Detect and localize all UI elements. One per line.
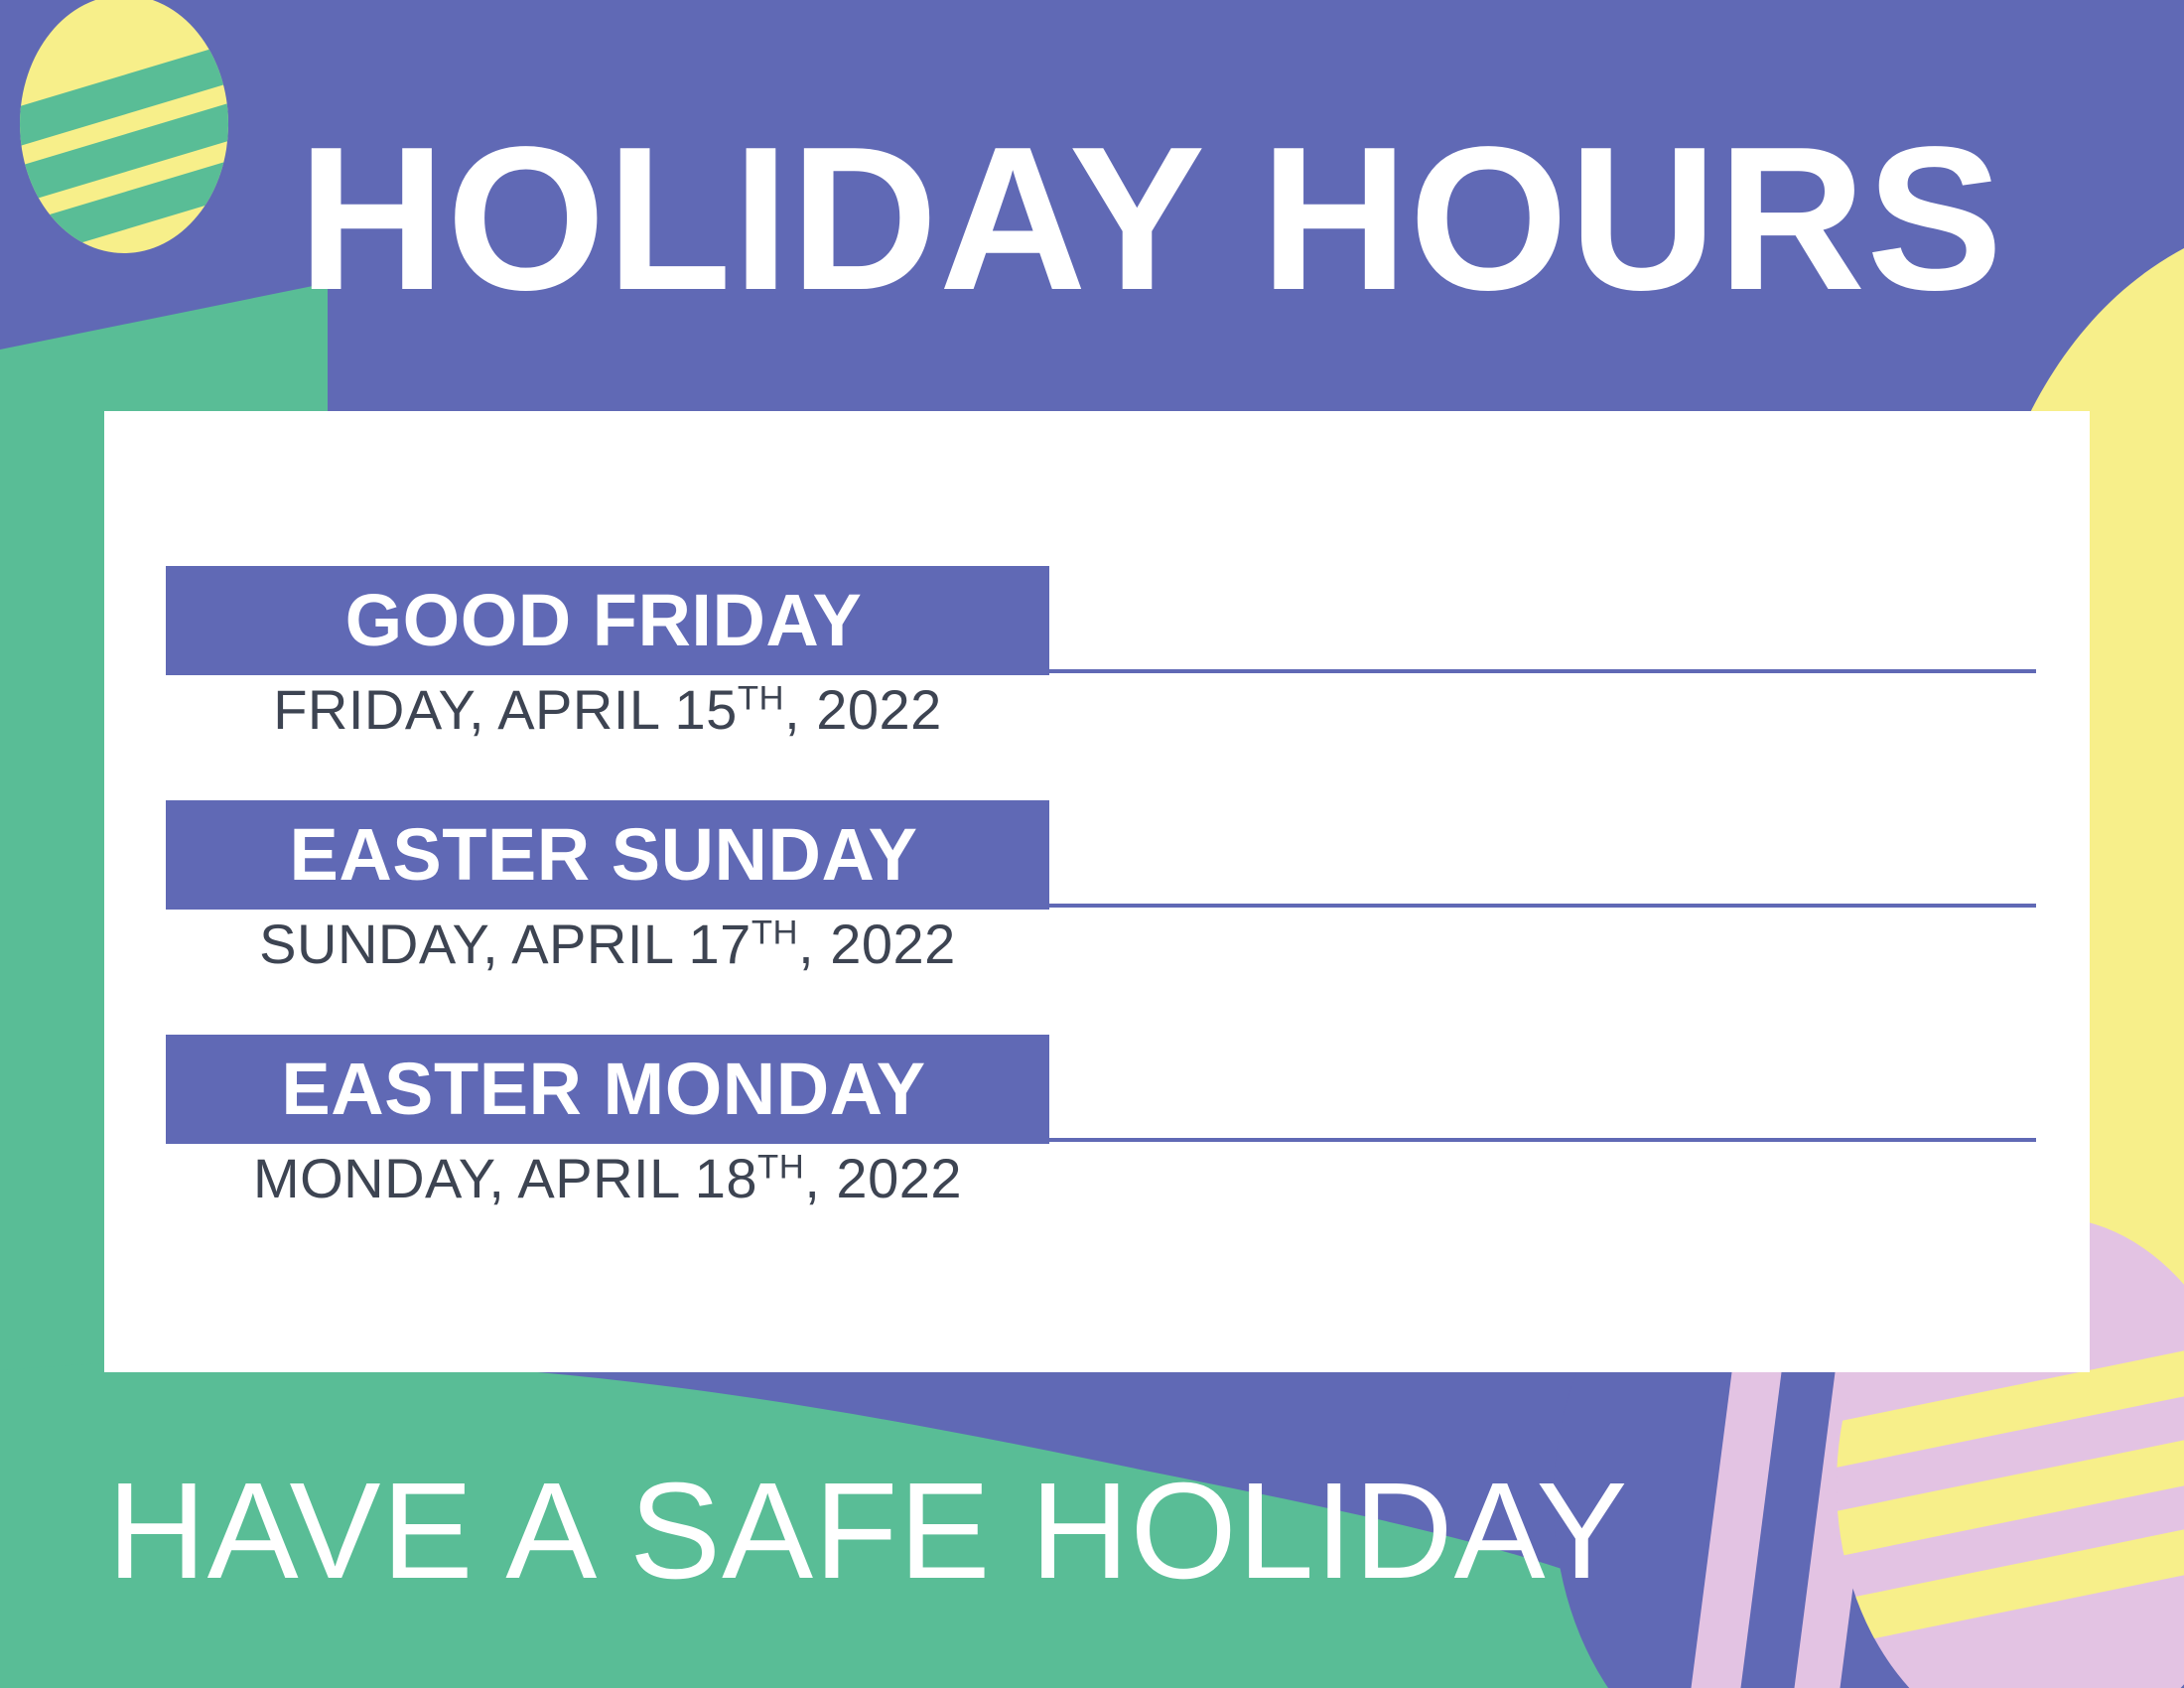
holiday-hours-poster: HOLIDAY HOURS GOOD FRIDAY FRIDAY, APRIL … xyxy=(0,0,2184,1688)
holiday-date-ordinal: TH xyxy=(738,679,784,717)
holiday-name-banner: GOOD FRIDAY xyxy=(166,566,1049,675)
holiday-name-label: EASTER MONDAY xyxy=(281,1051,925,1128)
holiday-date: FRIDAY, APRIL 15TH, 2022 xyxy=(166,677,1049,743)
page-title: HOLIDAY HOURS xyxy=(298,114,1966,323)
holiday-date-year: , 2022 xyxy=(784,678,942,741)
holiday-date-day: FRIDAY, APRIL 15 xyxy=(273,678,738,741)
holiday-date-ordinal: TH xyxy=(751,914,798,951)
holiday-date-year: , 2022 xyxy=(804,1147,962,1209)
holiday-name-banner: EASTER MONDAY xyxy=(166,1035,1049,1144)
holiday-name-banner: EASTER SUNDAY xyxy=(166,800,1049,910)
holiday-date: MONDAY, APRIL 18TH, 2022 xyxy=(166,1146,1049,1211)
holiday-name-label: GOOD FRIDAY xyxy=(345,582,863,659)
footer-slogan: HAVE A SAFE HOLIDAY xyxy=(107,1458,1628,1605)
holiday-rows: GOOD FRIDAY FRIDAY, APRIL 15TH, 2022 EAS… xyxy=(104,411,2090,1372)
holiday-date: SUNDAY, APRIL 17TH, 2022 xyxy=(166,912,1049,977)
holiday-date-day: SUNDAY, APRIL 17 xyxy=(259,913,751,975)
holiday-date-day: MONDAY, APRIL 18 xyxy=(253,1147,757,1209)
holiday-date-ordinal: TH xyxy=(757,1148,804,1186)
holiday-date-year: , 2022 xyxy=(798,913,956,975)
holiday-name-label: EASTER SUNDAY xyxy=(290,816,918,894)
holiday-list-card: GOOD FRIDAY FRIDAY, APRIL 15TH, 2022 EAS… xyxy=(104,411,2090,1372)
